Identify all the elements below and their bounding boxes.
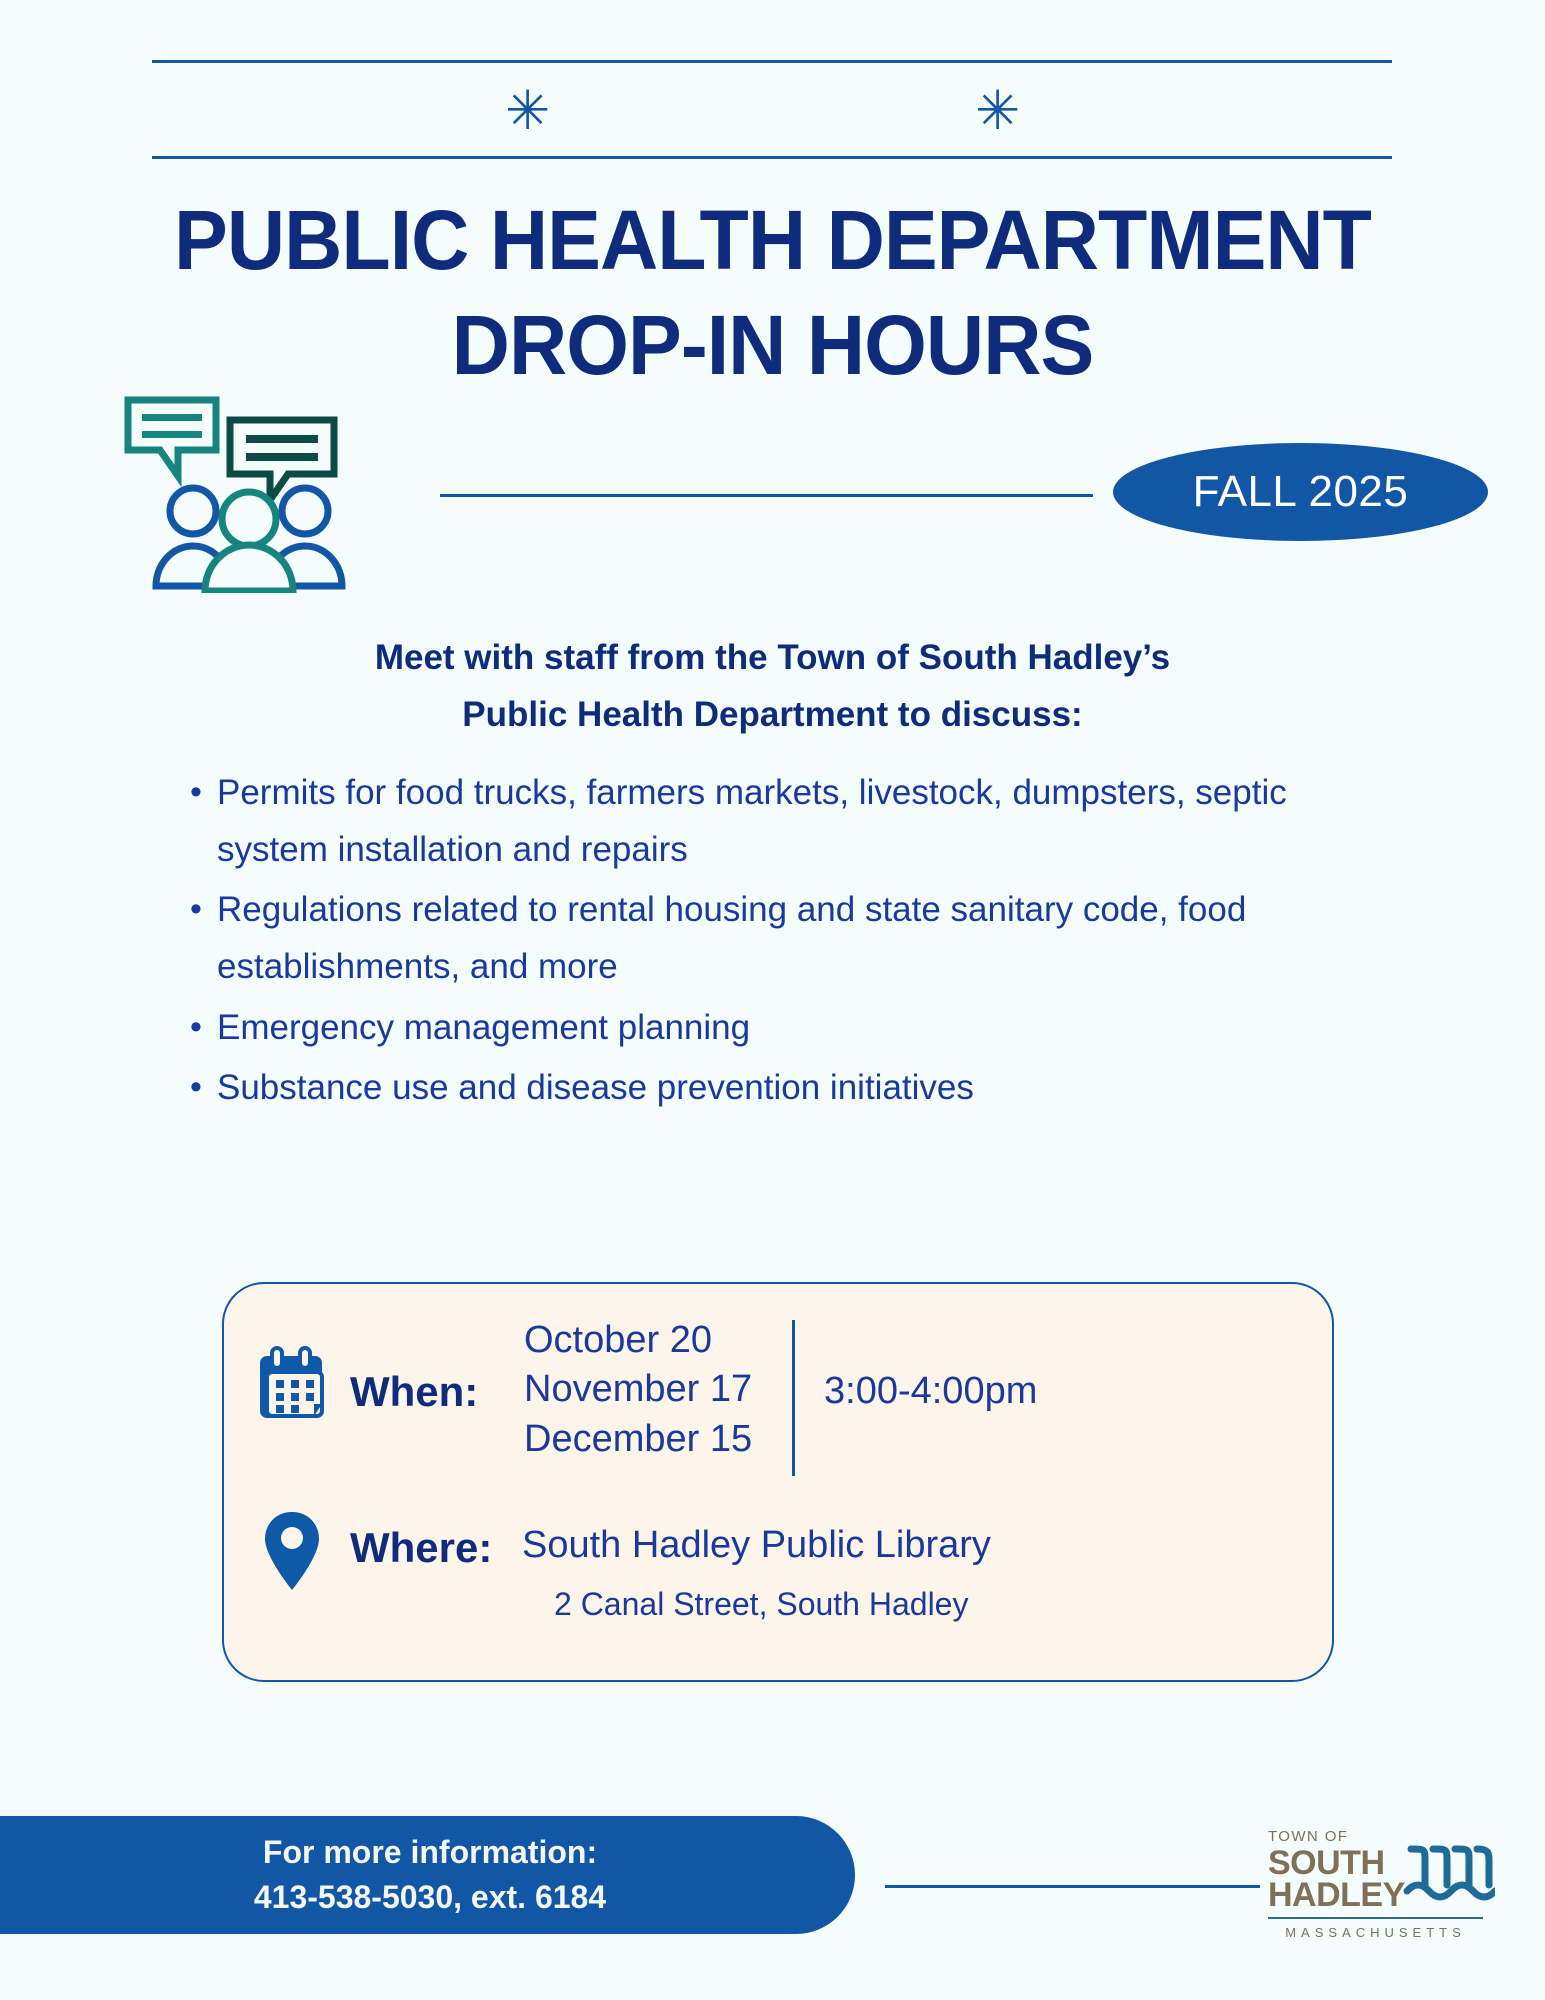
waterfall-icon (1403, 1845, 1495, 1912)
bullet-marker: • (175, 1000, 217, 1055)
contact-info-line-2: 413-538-5030, ext. 6184 (109, 1875, 606, 1920)
date-2: November 17 (524, 1365, 814, 1414)
list-item-text: Regulations related to rental housing an… (217, 882, 1405, 995)
list-item-text: Emergency management planning (217, 1000, 750, 1057)
badge-rule (440, 494, 1093, 497)
logo-wordmark: SOUTH HADLEY (1268, 1845, 1483, 1912)
list-item-text: Substance use and disease prevention ini… (217, 1060, 974, 1117)
topics-list: • Permits for food trucks, farmers marke… (175, 765, 1405, 1121)
list-item: • Permits for food trucks, farmers marke… (175, 765, 1405, 878)
title-line-1: PUBLIC HEALTH DEPARTMENT (31, 195, 1514, 286)
lead-paragraph: Meet with staff from the Town of South H… (0, 630, 1545, 743)
lead-line-1: Meet with staff from the Town of South H… (0, 630, 1545, 687)
when-label: When: (350, 1368, 478, 1416)
when-row: When: October 20 November 17 December 15… (224, 1308, 1332, 1488)
location-pin-icon (262, 1510, 322, 1592)
top-decoration: ✳ ✳ (0, 40, 1545, 160)
event-details-card: When: October 20 November 17 December 15… (222, 1282, 1334, 1682)
top-rule-lower (152, 156, 1392, 159)
season-badge: FALL 2025 (1113, 443, 1488, 541)
top-rule-upper (152, 60, 1392, 63)
logo-state: MASSACHUSETTS (1268, 1925, 1483, 1940)
event-time: 3:00-4:00pm (824, 1370, 1037, 1413)
footer-rule (885, 1885, 1260, 1888)
bullet-marker: • (175, 1060, 217, 1115)
flyer-page: ✳ ✳ PUBLIC HEALTH DEPARTMENT DROP-IN HOU… (0, 0, 1545, 2000)
calendar-icon (256, 1346, 334, 1426)
venue-name: South Hadley Public Library (522, 1524, 991, 1567)
logo-name-line-2: HADLEY (1268, 1879, 1405, 1912)
list-item: • Emergency management planning (175, 1000, 1405, 1057)
list-item: • Substance use and disease prevention i… (175, 1060, 1405, 1117)
contact-info-pill: For more information: 413-538-5030, ext.… (0, 1816, 855, 1934)
people-discussion-icon (120, 388, 350, 593)
list-item: • Regulations related to rental housing … (175, 882, 1405, 995)
contact-info-line-1: For more information: (118, 1830, 597, 1875)
list-item-text: Permits for food trucks, farmers markets… (217, 765, 1405, 878)
sparkle-icon: ✳ (975, 84, 1020, 138)
lead-line-2: Public Health Department to discuss: (0, 687, 1545, 744)
page-title: PUBLIC HEALTH DEPARTMENT DROP-IN HOURS (0, 195, 1545, 390)
vertical-divider (792, 1320, 795, 1476)
bullet-marker: • (175, 765, 217, 820)
logo-divider (1268, 1917, 1483, 1919)
town-logo: TOWN OF SOUTH HADLEY (1268, 1828, 1483, 1963)
venue-address: 2 Canal Street, South Hadley (554, 1586, 968, 1623)
dates-list: October 20 November 17 December 15 (524, 1316, 814, 1464)
where-label: Where: (350, 1524, 492, 1572)
date-1: October 20 (524, 1316, 814, 1365)
sparkle-icon: ✳ (505, 84, 550, 138)
logo-town-of: TOWN OF (1268, 1828, 1483, 1845)
date-3: December 15 (524, 1415, 814, 1464)
title-line-2: DROP-IN HOURS (31, 300, 1514, 391)
logo-name-line-1: SOUTH (1268, 1847, 1405, 1880)
bullet-marker: • (175, 882, 217, 937)
